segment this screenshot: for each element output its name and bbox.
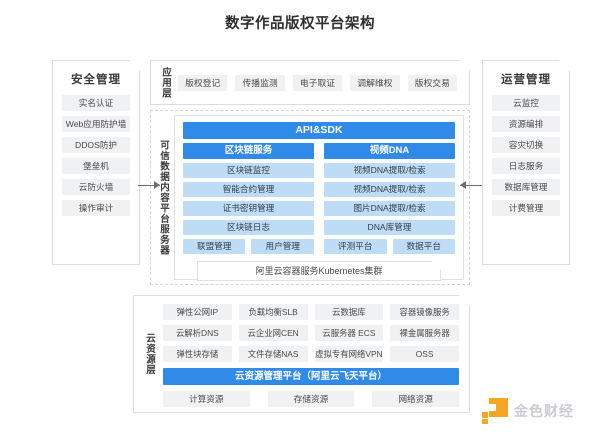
cloud-layer-body: 弹性公网IP 负载均衡SLB 云数据库 容器镜像服务 云解析DNS 云企业网CE…: [159, 296, 469, 412]
video-dna-item-3[interactable]: DNA库管理: [324, 220, 455, 235]
watermark-text: 金色财经: [514, 401, 574, 421]
blockchain-item-0[interactable]: 区块链监控: [183, 163, 314, 178]
video-dna-item-1[interactable]: 视频DNA提取/检索: [324, 182, 455, 197]
cloud-item-2-3[interactable]: OSS: [390, 346, 459, 362]
security-item-4[interactable]: 云防火墙: [62, 179, 130, 195]
api-sdk-bar[interactable]: API&SDK: [183, 122, 455, 139]
operations-item-4[interactable]: 数据库管理: [492, 179, 560, 195]
app-item-1[interactable]: 传播监测: [235, 75, 284, 91]
cloud-item-1-0[interactable]: 云解析DNS: [163, 325, 232, 341]
blockchain-item-1[interactable]: 智能合约管理: [183, 182, 314, 197]
app-item-0[interactable]: 版权登记: [178, 75, 227, 91]
security-item-2[interactable]: DDOS防护: [62, 137, 130, 153]
cloud-item-1-3[interactable]: 裸金属服务器: [390, 325, 459, 341]
cloud-item-2-1[interactable]: 文件存储NAS: [239, 346, 308, 362]
cloud-item-1-2[interactable]: 云服务器 ECS: [315, 325, 384, 341]
cloud-item-2-0[interactable]: 弹性块存储: [163, 346, 232, 362]
blockchain-item-3[interactable]: 区块链日志: [183, 220, 314, 235]
cloud-resource-0[interactable]: 计算资源: [163, 391, 250, 407]
cloud-resource-layer-panel: 云资源层 弹性公网IP 负载均衡SLB 云数据库 容器镜像服务 云解析DNS 云…: [133, 295, 470, 413]
operations-item-3[interactable]: 日志服务: [492, 158, 560, 174]
cloud-item-0-0[interactable]: 弹性公网IP: [163, 304, 232, 320]
video-dna-column: 视频DNA 视频DNA提取/检索 视频DNA提取/检索 图片DNA提取/检索 D…: [324, 143, 455, 254]
security-management-panel: 安全管理 实名认证 Web应用防护墙 DDOS防护 堡垒机 云防火墙 操作审计: [52, 60, 140, 265]
video-dna-header[interactable]: 视频DNA: [324, 143, 455, 159]
blockchain-service-header[interactable]: 区块链服务: [183, 143, 314, 159]
platform-columns: 区块链服务 区块链监控 智能合约管理 证书密钥管理 区块链日志 联盟管理 用户管…: [183, 143, 455, 254]
cloud-management-platform-bar[interactable]: 云资源管理平台（阿里云飞天平台）: [163, 368, 459, 385]
application-layer-items: 版权登记 传播监测 电子取证 调解维权 版权交易: [178, 75, 469, 91]
app-item-3[interactable]: 调解维权: [350, 75, 399, 91]
video-dna-item-0[interactable]: 视频DNA提取/检索: [324, 163, 455, 178]
platform-layer-body: API&SDK 区块链服务 区块链监控 智能合约管理 证书密钥管理 区块链日志 …: [174, 115, 464, 280]
kubernetes-cluster-bar[interactable]: 阿里云容器服务Kubernetes集群: [197, 261, 441, 281]
cloud-resource-2[interactable]: 网络资源: [372, 391, 459, 407]
blockchain-item-2[interactable]: 证书密钥管理: [183, 201, 314, 216]
operations-management-panel: 运营管理 云监控 资源编排 容灾切换 日志服务 数据库管理 计费管理: [482, 60, 570, 265]
security-panel-heading: 安全管理: [62, 71, 130, 87]
video-dna-item-2[interactable]: 图片DNA提取/检索: [324, 201, 455, 216]
cloud-row-0: 弹性公网IP 负载均衡SLB 云数据库 容器镜像服务: [163, 304, 459, 320]
cloud-item-0-1[interactable]: 负载均衡SLB: [239, 304, 308, 320]
security-item-1[interactable]: Web应用防护墙: [62, 116, 130, 132]
blockchain-service-column: 区块链服务 区块链监控 智能合约管理 证书密钥管理 区块链日志 联盟管理 用户管…: [183, 143, 314, 254]
page-title: 数字作品版权平台架构: [0, 12, 600, 33]
platform-layer-label: 可信数据内容平台服务器: [158, 140, 168, 256]
operations-panel-heading: 运营管理: [492, 71, 560, 87]
operations-item-1[interactable]: 资源编排: [492, 116, 560, 132]
app-item-4[interactable]: 版权交易: [408, 75, 457, 91]
video-dna-pair-1[interactable]: 数据平台: [393, 239, 456, 254]
video-dna-pair-row: 评测平台 数据平台: [324, 239, 455, 254]
cloud-row-2: 弹性块存储 文件存储NAS 虚拟专有网络VPN OSS: [163, 346, 459, 362]
cloud-row-1: 云解析DNS 云企业网CEN 云服务器 ECS 裸金属服务器: [163, 325, 459, 341]
cloud-item-0-2[interactable]: 云数据库: [315, 304, 384, 320]
jinse-logo-icon: [482, 398, 508, 424]
operations-item-2[interactable]: 容灾切换: [492, 137, 560, 153]
security-item-3[interactable]: 堡垒机: [62, 158, 130, 174]
security-item-5[interactable]: 操作审计: [62, 200, 130, 216]
application-layer-label: 应用层: [160, 67, 170, 99]
arrow-security-to-platform-icon: [138, 181, 160, 190]
cloud-layer-label: 云资源层: [144, 333, 154, 375]
arrow-operations-to-platform-icon: [460, 181, 482, 190]
operations-item-0[interactable]: 云监控: [492, 95, 560, 111]
video-dna-pair-0[interactable]: 评测平台: [324, 239, 387, 254]
cloud-resources-row: 计算资源 存储资源 网络资源: [163, 391, 459, 407]
watermark: 金色财经: [482, 398, 574, 424]
blockchain-pair-0[interactable]: 联盟管理: [183, 239, 246, 254]
app-item-2[interactable]: 电子取证: [293, 75, 342, 91]
cloud-item-0-3[interactable]: 容器镜像服务: [390, 304, 459, 320]
cloud-item-2-2[interactable]: 虚拟专有网络VPN: [315, 346, 384, 362]
cloud-resource-1[interactable]: 存储资源: [268, 391, 355, 407]
platform-layer-panel: 可信数据内容平台服务器 API&SDK 区块链服务 区块链监控 智能合约管理 证…: [150, 110, 470, 285]
operations-item-5[interactable]: 计费管理: [492, 200, 560, 216]
security-item-0[interactable]: 实名认证: [62, 95, 130, 111]
application-layer-panel: 应用层 版权登记 传播监测 电子取证 调解维权 版权交易: [150, 60, 470, 105]
blockchain-pair-1[interactable]: 用户管理: [251, 239, 314, 254]
cloud-item-1-1[interactable]: 云企业网CEN: [239, 325, 308, 341]
blockchain-pair-row: 联盟管理 用户管理: [183, 239, 314, 254]
